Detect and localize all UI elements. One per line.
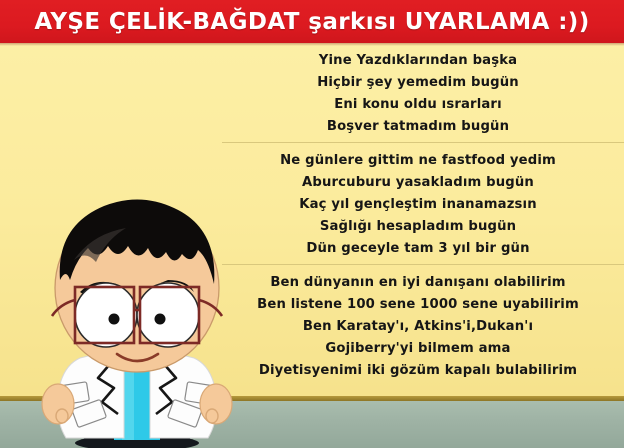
banner-shadow xyxy=(0,43,624,46)
lyric-line: Aburcuburu yasakladım bugün xyxy=(222,172,614,194)
title-banner: AYŞE ÇELİK-BAĞDAT şarkısı UYARLAMA :)) xyxy=(0,0,624,43)
poster-root: AYŞE ÇELİK-BAĞDAT şarkısı UYARLAMA :)) xyxy=(0,0,624,448)
character-head xyxy=(52,199,222,372)
eye-right xyxy=(137,283,199,347)
lyrics-column: Yine Yazdıklarından başka Hiçbir şey yem… xyxy=(222,48,624,386)
pupil-right xyxy=(155,314,166,325)
lyric-line: Ben Karatay'ı, Atkins'i,Dukan'ı xyxy=(222,316,614,338)
lyric-line: Ben dünyanın en iyi danışanı olabilirim xyxy=(222,272,614,294)
lyric-stanza-2: Ne günlere gittim ne fastfood yedim Abur… xyxy=(222,142,624,264)
lyric-line: Gojiberry'yi bilmem ama xyxy=(222,338,614,360)
lyric-line: Dün geceyle tam 3 yıl bir gün xyxy=(222,238,614,260)
lyric-line: Ne günlere gittim ne fastfood yedim xyxy=(222,150,614,172)
lyric-line: Sağlığı hesapladım bugün xyxy=(222,216,614,238)
lyric-stanza-3: Ben dünyanın en iyi danışanı olabilirim … xyxy=(222,264,624,386)
dietitian-character xyxy=(22,188,252,448)
lyric-line: Yine Yazdıklarından başka xyxy=(222,50,614,72)
lyric-line: Eni konu oldu ısrarları xyxy=(222,94,614,116)
eye-left xyxy=(75,283,137,347)
lyric-line: Diyetisyenimi iki gözüm kapalı bulabilir… xyxy=(222,360,614,382)
poster-title: AYŞE ÇELİK-BAĞDAT şarkısı UYARLAMA :)) xyxy=(34,9,589,35)
lyric-stanza-1: Yine Yazdıklarından başka Hiçbir şey yem… xyxy=(222,48,624,142)
hand-right xyxy=(200,384,232,424)
hand-left xyxy=(42,384,74,424)
lyric-line: Ben listene 100 sene 1000 sene uyabiliri… xyxy=(222,294,614,316)
lyric-line: Boşver tatmadım bugün xyxy=(222,116,614,138)
lyric-line: Kaç yıl gençleştim inanamazsın xyxy=(222,194,614,216)
pupil-left xyxy=(109,314,120,325)
lyric-line: Hiçbir şey yemedim bugün xyxy=(222,72,614,94)
